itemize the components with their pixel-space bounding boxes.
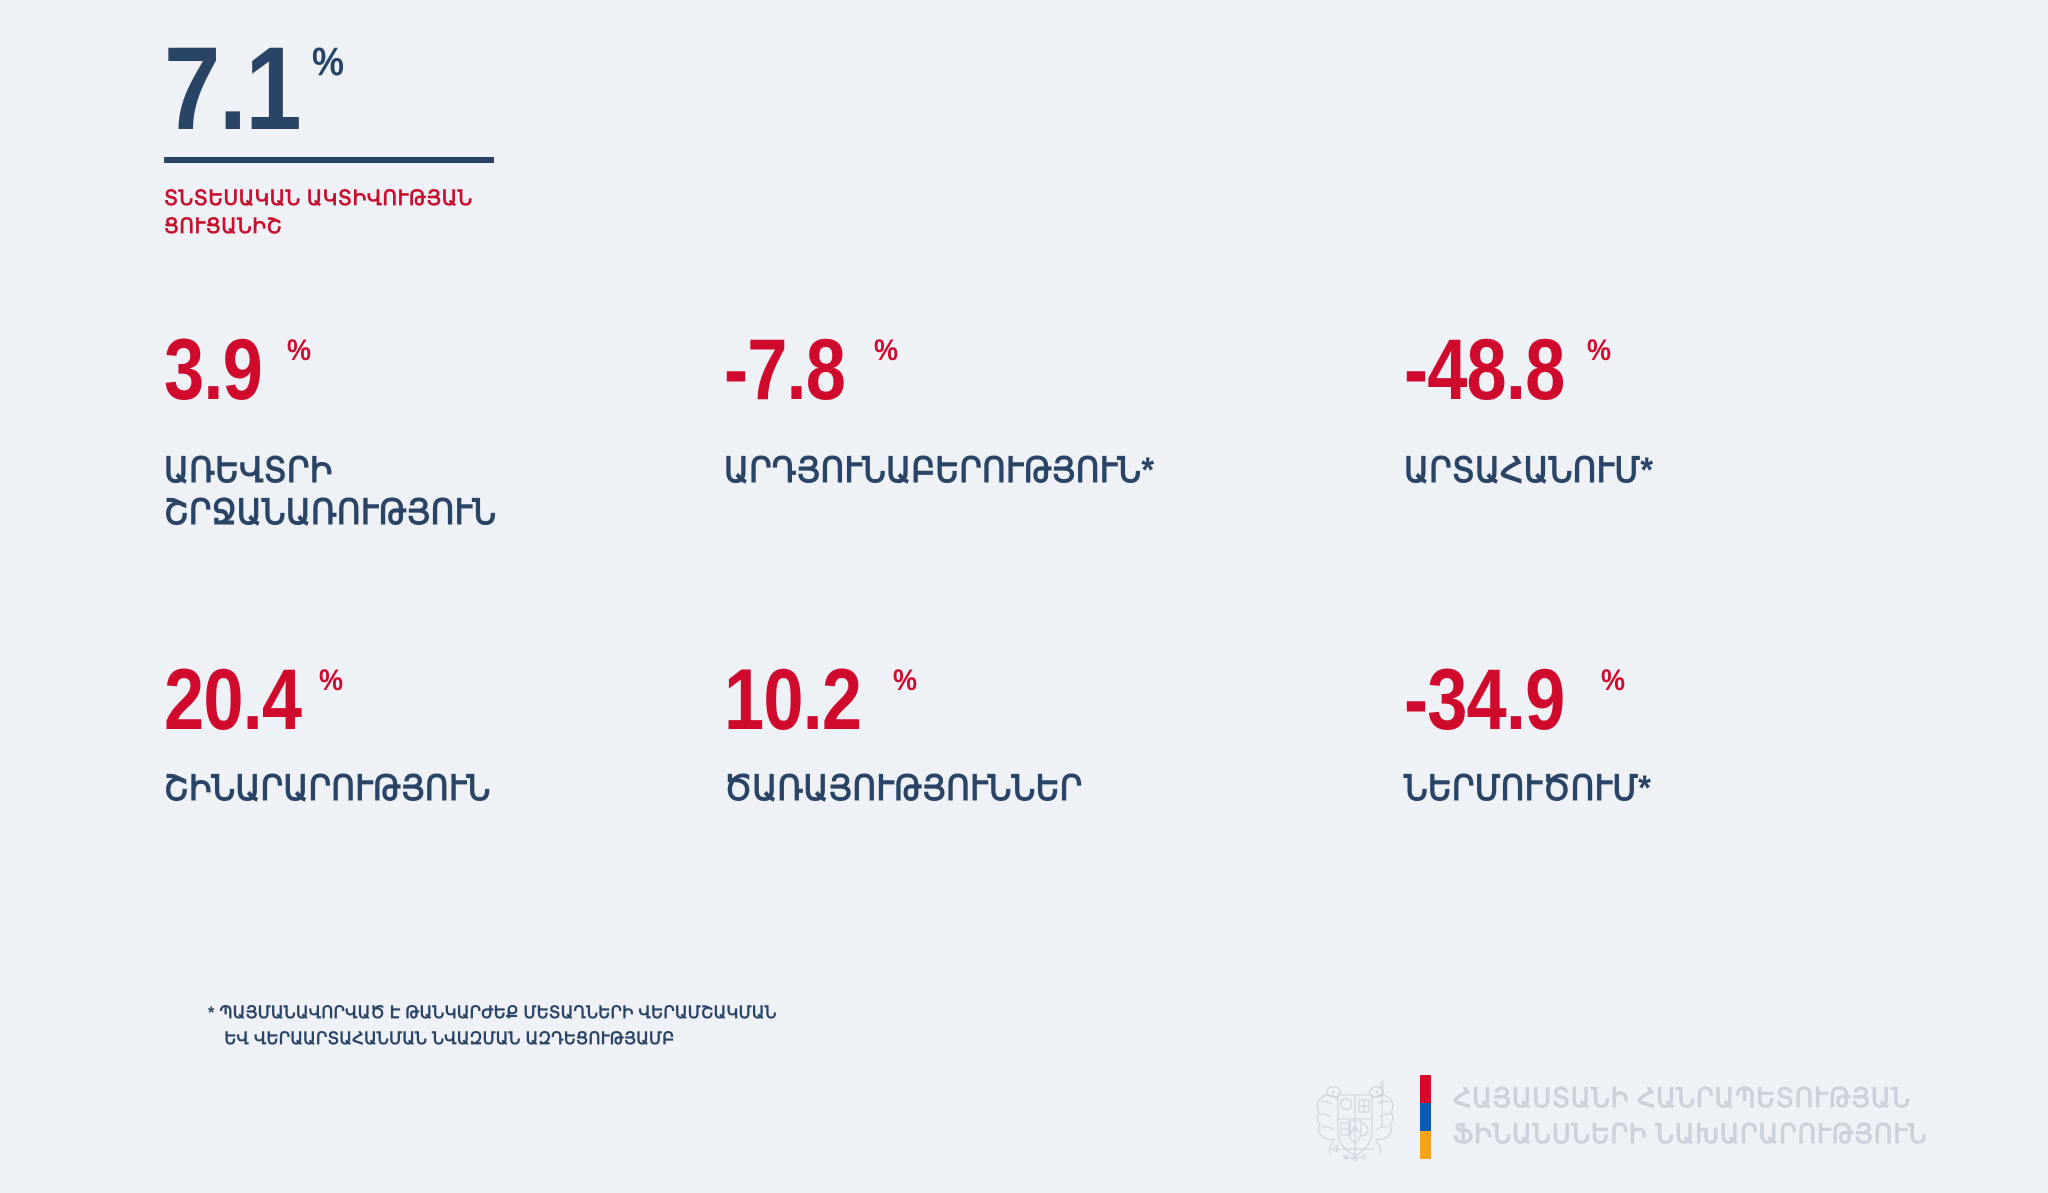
stat-value: -48.8 — [1404, 330, 1564, 412]
footnote: * ՊԱՅՄԱՆԱՎՈՐՎԱԾ Է ԹԱՆԿԱՐԺԵՔ ՄԵՏԱՂՆԵՐԻ ՎԵ… — [208, 1000, 777, 1051]
stat-percent-sign: % — [874, 336, 898, 366]
headline-value-row: 7.1 % — [164, 34, 684, 145]
stat-value: 3.9 — [164, 330, 262, 412]
flag-stripe-orange — [1420, 1131, 1431, 1159]
stat-label-line1: ՆԵՐՄՈՒԾՈՒՄ* — [1404, 768, 1850, 811]
headline-divider — [164, 157, 494, 163]
stat-label-line2: ՇՐՋԱՆԱՌՈՒԹՅՈՒՆ — [164, 492, 666, 535]
stat-value-row: -34.9 % — [1404, 660, 1884, 742]
stat-label: ԾԱՌԱՅՈՒԹՅՈՒՆՆԵՐ — [724, 768, 1338, 811]
stat-label: ԱՐՏԱՀԱՆՈՒՄ* — [1404, 450, 1850, 493]
stat-label-line1: ԱՌԵՎՏՐԻ — [164, 450, 666, 493]
stat-percent-sign: % — [287, 336, 311, 366]
headline-label: ՏՆՏԵՍԱԿԱՆ ԱԿՏԻՎՈՒԹՅԱՆ ՑՈՒՑԱՆԻՇ — [164, 185, 506, 242]
stat-card-import: -34.9 % ՆԵՐՄՈՒԾՈՒՄ* — [1404, 660, 1904, 810]
stat-card-services: 10.2 % ԾԱՌԱՅՈՒԹՅՈՒՆՆԵՐ — [724, 660, 1404, 810]
headline-percent-sign: % — [312, 42, 344, 82]
stat-value-row: -7.8 % — [724, 330, 1384, 412]
stat-percent-sign: % — [893, 666, 917, 696]
stat-value: 20.4 — [164, 660, 301, 742]
ministry-name: ՀԱՅԱՍՏԱՆԻ ՀԱՆՐԱՊԵՏՈՒԹՅԱՆ ՖԻՆԱՆՍՆԵՐԻ ՆԱԽԱ… — [1453, 1081, 1927, 1152]
stat-value-row: -48.8 % — [1404, 330, 1884, 412]
stat-value-row: 3.9 % — [164, 330, 704, 412]
stat-label-line1: ՇԻՆԱՐԱՐՈՒԹՅՈՒՆ — [164, 768, 666, 811]
stat-value: 10.2 — [724, 660, 861, 742]
ministry-lockup: ՀԱՅԱՍՏԱՆԻ ՀԱՆՐԱՊԵՏՈՒԹՅԱՆ ՖԻՆԱՆՍՆԵՐԻ ՆԱԽԱ… — [1312, 1069, 1952, 1165]
stat-card-construction: 20.4 % ՇԻՆԱՐԱՐՈՒԹՅՈՒՆ — [164, 660, 724, 810]
stats-grid: 3.9 % ԱՌԵՎՏՐԻ ՇՐՋԱՆԱՌՈՒԹՅՈՒՆ -7.8 % ԱՐԴՅ… — [164, 330, 1904, 810]
armenia-coat-of-arms-icon — [1312, 1069, 1398, 1165]
footnote-line-2: ԵՎ ՎԵՐԱԱՐՏԱՀԱՆՄԱՆ ՆՎԱԶՄԱՆ ԱԶԴԵՑՈՒԹՅԱՄԲ — [208, 1026, 777, 1052]
stat-label: ՇԻՆԱՐԱՐՈՒԹՅՈՒՆ — [164, 768, 666, 811]
flag-stripe-blue — [1420, 1103, 1431, 1131]
stat-label: ԱՌԵՎՏՐԻ ՇՐՋԱՆԱՌՈՒԹՅՈՒՆ — [164, 450, 666, 535]
footnote-line-1: * ՊԱՅՄԱՆԱՎՈՐՎԱԾ Է ԹԱՆԿԱՐԺԵՔ ՄԵՏԱՂՆԵՐԻ ՎԵ… — [208, 1000, 777, 1026]
stat-label-line1: ԱՐՏԱՀԱՆՈՒՄ* — [1404, 450, 1850, 493]
stat-value: -34.9 — [1404, 660, 1564, 742]
stat-percent-sign: % — [1587, 336, 1611, 366]
stat-percent-sign: % — [319, 666, 343, 696]
stat-card-export: -48.8 % ԱՐՏԱՀԱՆՈՒՄ* — [1404, 330, 1904, 660]
stat-card-industry: -7.8 % ԱՐԴՅՈՒՆԱԲԵՐՈՒԹՅՈՒՆ* — [724, 330, 1404, 660]
ministry-name-line-1: ՀԱՅԱՍՏԱՆԻ ՀԱՆՐԱՊԵՏՈՒԹՅԱՆ — [1453, 1081, 1927, 1117]
armenia-flag-bar-icon — [1420, 1075, 1431, 1159]
headline-block: 7.1 % ՏՆՏԵՍԱԿԱՆ ԱԿՏԻՎՈՒԹՅԱՆ ՑՈՒՑԱՆԻՇ — [164, 34, 684, 242]
stat-value: -7.8 — [724, 330, 845, 412]
stat-percent-sign: % — [1601, 666, 1625, 696]
headline-value: 7.1 — [164, 34, 300, 145]
stat-label-line1: ԱՐԴՅՈՒՆԱԲԵՐՈՒԹՅՈՒՆ* — [724, 450, 1338, 493]
stat-label: ՆԵՐՄՈՒԾՈՒՄ* — [1404, 768, 1850, 811]
stat-value-row: 10.2 % — [724, 660, 1384, 742]
stat-label: ԱՐԴՅՈՒՆԱԲԵՐՈՒԹՅՈՒՆ* — [724, 450, 1338, 493]
stat-value-row: 20.4 % — [164, 660, 704, 742]
flag-stripe-red — [1420, 1075, 1431, 1103]
ministry-name-line-2: ՖԻՆԱՆՍՆԵՐԻ ՆԱԽԱՐԱՐՈՒԹՅՈՒՆ — [1453, 1117, 1927, 1153]
stat-card-trade-turnover: 3.9 % ԱՌԵՎՏՐԻ ՇՐՋԱՆԱՌՈՒԹՅՈՒՆ — [164, 330, 724, 660]
stat-label-line1: ԾԱՌԱՅՈՒԹՅՈՒՆՆԵՐ — [724, 768, 1338, 811]
